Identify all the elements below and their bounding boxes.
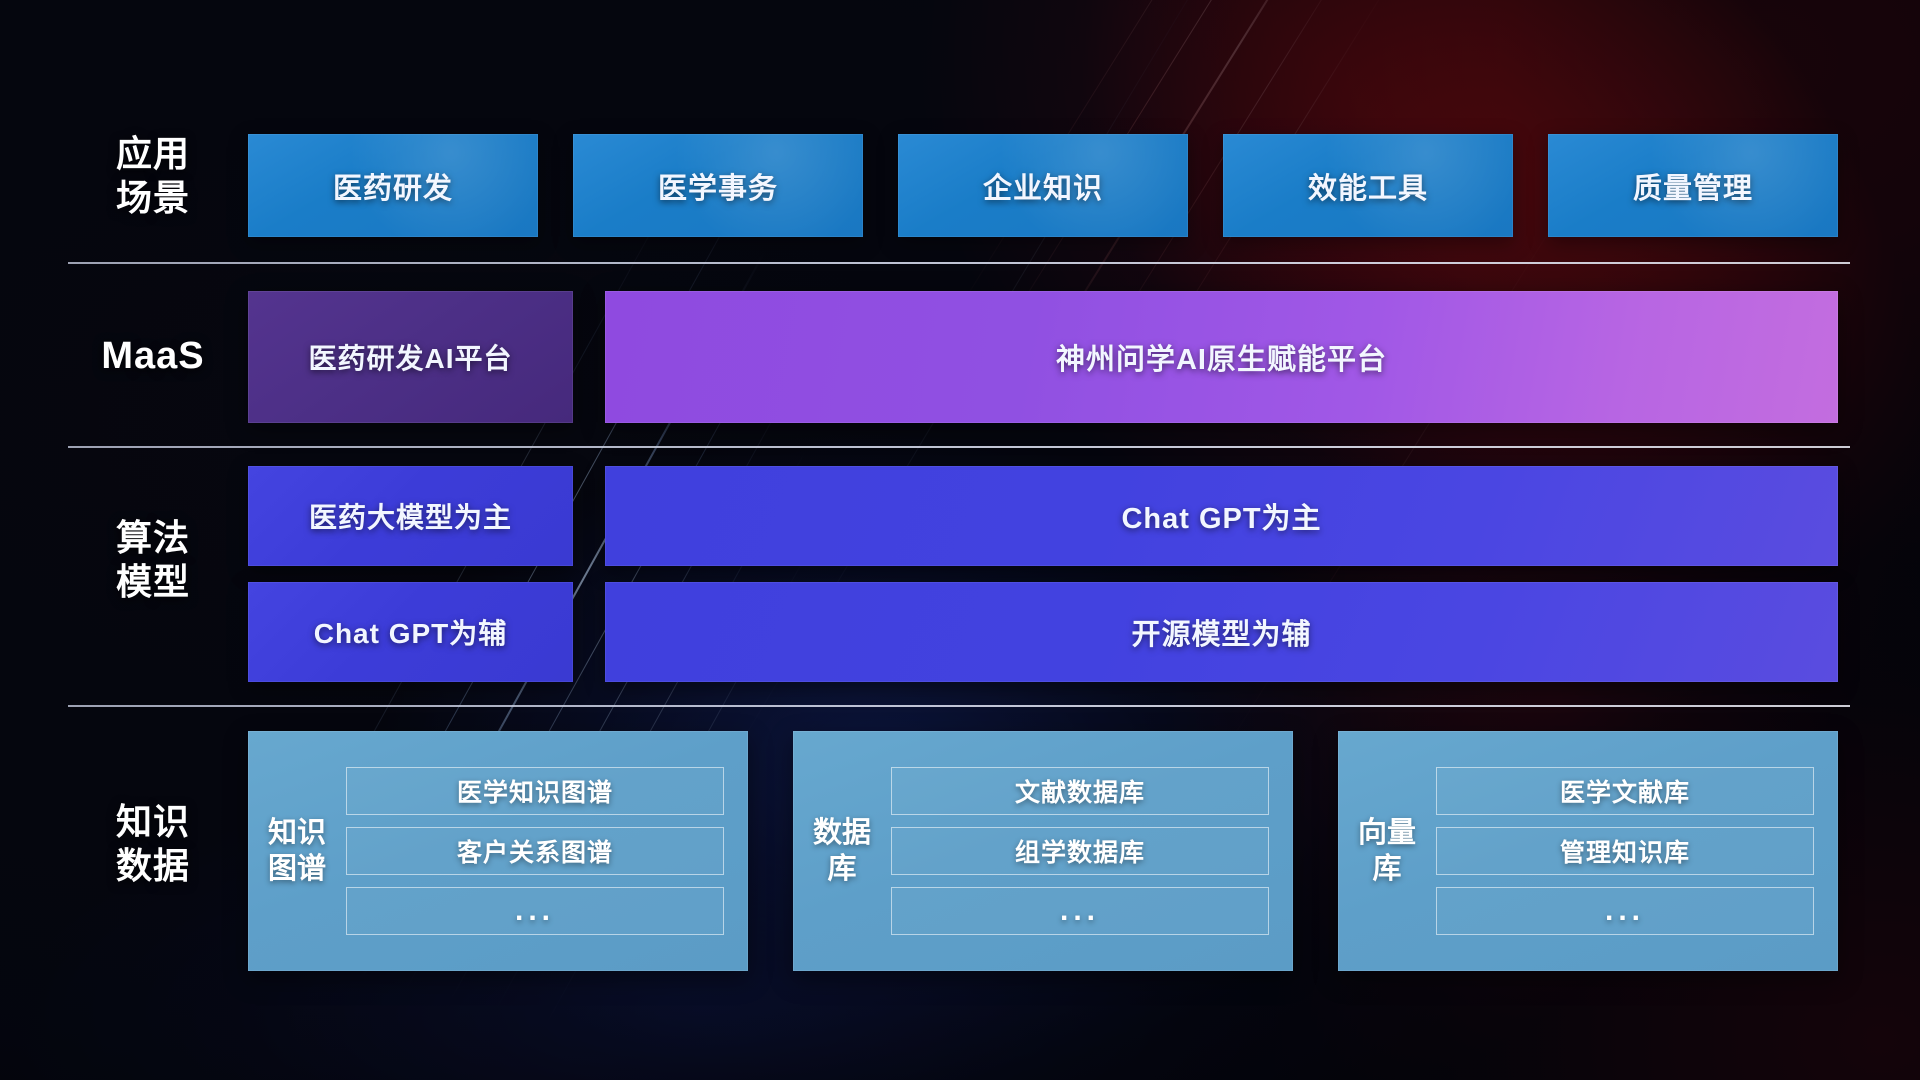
- knowledge-group-title: 知识图谱: [266, 815, 328, 887]
- maas-card-label: 医药研发AI平台: [308, 337, 512, 377]
- algo-card-medicine-large-model-primary[interactable]: 医药大模型为主: [248, 466, 573, 566]
- knowledge-item-more[interactable]: ...: [346, 887, 724, 935]
- algo-card-label: 开源模型为辅: [1131, 611, 1311, 653]
- row-label-line1: 知识: [68, 800, 238, 844]
- knowledge-item[interactable]: 医学文献库: [1436, 767, 1814, 815]
- knowledge-item[interactable]: 管理知识库: [1436, 827, 1814, 875]
- app-card-label: 企业知识: [983, 165, 1103, 207]
- knowledge-group-items: 医学知识图谱 客户关系图谱 ...: [346, 767, 724, 935]
- knowledge-group-vector-store[interactable]: 向量库 医学文献库 管理知识库 ...: [1338, 731, 1838, 971]
- architecture-diagram: 应用 场景 医药研发 医学事务 企业知识 效能工具 质量管理 MaaS 医药研发…: [0, 0, 1920, 1080]
- maas-card-label: 神州问学AI原生赋能平台: [1056, 336, 1387, 378]
- algo-card-label: Chat GPT为主: [1121, 495, 1321, 537]
- row-label-line2: 模型: [68, 560, 238, 604]
- knowledge-item[interactable]: 文献数据库: [891, 767, 1269, 815]
- divider-after-algorithm-model: [68, 705, 1850, 707]
- knowledge-group-items: 医学文献库 管理知识库 ...: [1436, 767, 1814, 935]
- knowledge-group-title: 数据库: [811, 815, 873, 887]
- app-card-enterprise-knowledge[interactable]: 企业知识: [898, 134, 1188, 237]
- knowledge-group-title: 向量库: [1356, 815, 1418, 887]
- knowledge-item[interactable]: 客户关系图谱: [346, 827, 724, 875]
- knowledge-item[interactable]: 组学数据库: [891, 827, 1269, 875]
- app-card-quality-management[interactable]: 质量管理: [1548, 134, 1838, 237]
- knowledge-group-items: 文献数据库 组学数据库 ...: [891, 767, 1269, 935]
- row-label-line1: MaaS: [68, 334, 238, 378]
- algo-card-label: Chat GPT为辅: [314, 612, 508, 652]
- knowledge-item-more[interactable]: ...: [891, 887, 1269, 935]
- maas-card-medicine-rnd-ai-platform[interactable]: 医药研发AI平台: [248, 291, 573, 423]
- knowledge-group-database[interactable]: 数据库 文献数据库 组学数据库 ...: [793, 731, 1293, 971]
- divider-after-maas: [68, 446, 1850, 448]
- knowledge-item-more[interactable]: ...: [1436, 887, 1814, 935]
- row-label-knowledge-data: 知识 数据: [68, 800, 238, 888]
- row-label-line1: 应用: [68, 132, 238, 176]
- app-card-medical-affairs[interactable]: 医学事务: [573, 134, 863, 237]
- app-card-label: 质量管理: [1633, 165, 1753, 207]
- knowledge-item[interactable]: 医学知识图谱: [346, 767, 724, 815]
- algo-card-chatgpt-secondary[interactable]: Chat GPT为辅: [248, 582, 573, 682]
- row-label-application-scenario: 应用 场景: [68, 132, 238, 220]
- algo-card-chatgpt-primary[interactable]: Chat GPT为主: [605, 466, 1838, 566]
- knowledge-group-knowledge-graph[interactable]: 知识图谱 医学知识图谱 客户关系图谱 ...: [248, 731, 748, 971]
- row-label-line1: 算法: [68, 516, 238, 560]
- maas-card-shenzhou-wenxue-platform[interactable]: 神州问学AI原生赋能平台: [605, 291, 1838, 423]
- app-card-label: 医学事务: [658, 165, 778, 207]
- app-card-label: 效能工具: [1308, 165, 1428, 207]
- row-label-line2: 数据: [68, 844, 238, 888]
- row-label-line2: 场景: [68, 176, 238, 220]
- app-card-efficiency-tools[interactable]: 效能工具: [1223, 134, 1513, 237]
- divider-after-application-scenario: [68, 262, 1850, 264]
- app-card-medicine-rnd[interactable]: 医药研发: [248, 134, 538, 237]
- algo-card-label: 医药大模型为主: [309, 496, 512, 536]
- app-card-label: 医药研发: [333, 165, 453, 207]
- row-label-maas: MaaS: [68, 334, 238, 378]
- row-label-algorithm-model: 算法 模型: [68, 516, 238, 604]
- algo-card-open-source-model-secondary[interactable]: 开源模型为辅: [605, 582, 1838, 682]
